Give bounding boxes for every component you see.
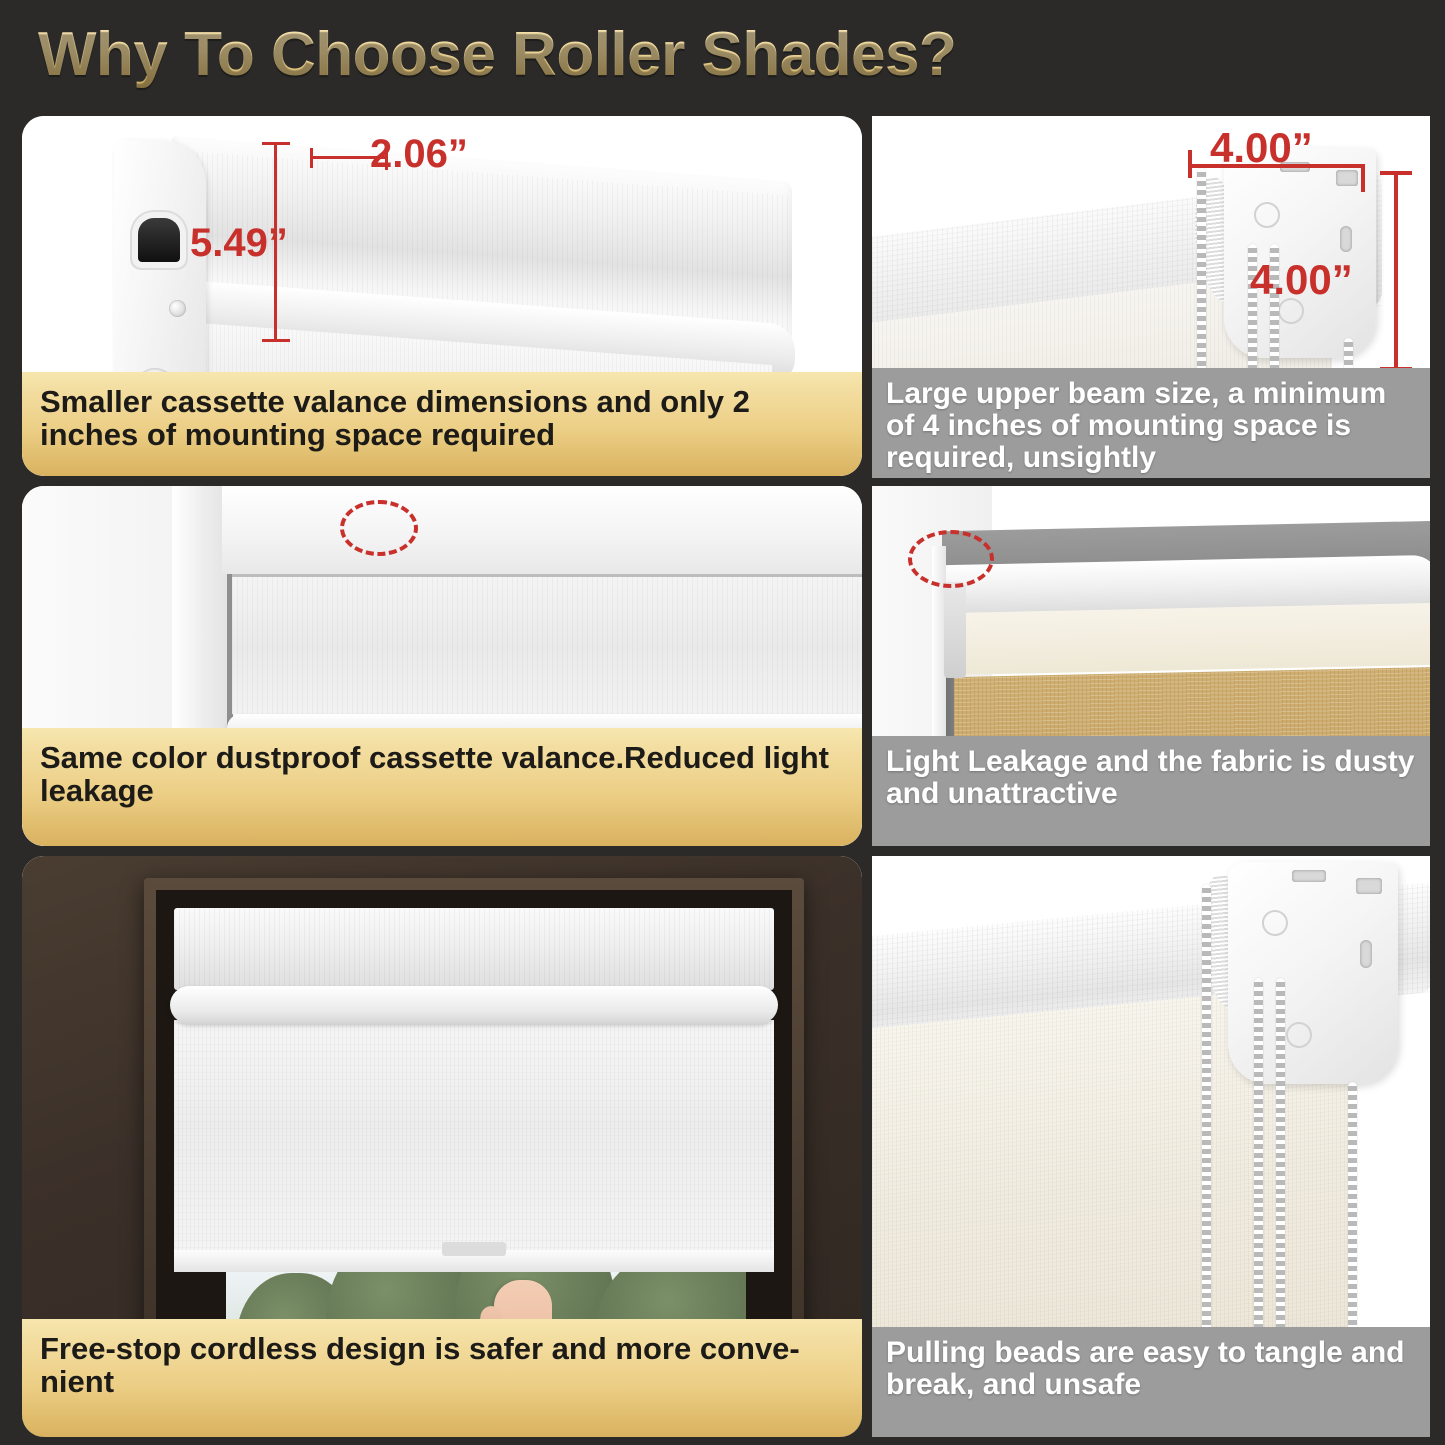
panel-cordless-design: Free-stop cordless design is safer and m… [22, 856, 862, 1437]
bracket-notch-a [1336, 170, 1358, 186]
mounting-bracket [1224, 148, 1376, 358]
mounting-clip [944, 582, 966, 678]
panel-caption-text: Free-stop cordless design is safer and m… [40, 1333, 844, 1399]
cream-fabric-band [940, 603, 1430, 675]
height-dimension-tick-bottom [262, 339, 290, 342]
highlight-circle-annotation [908, 530, 994, 588]
panel-pulling-beads: Pulling beads are easy to tangle and bre… [872, 856, 1430, 1437]
comparison-grid: 2.06” 5.49” Smaller cassette valance dim… [0, 108, 1445, 1445]
endcap-screw [169, 300, 186, 317]
panel-caption-text: Same color dustproof cassette valance.Re… [40, 742, 844, 808]
height-dimension-label: 4.00” [1250, 256, 1353, 304]
panel-caption: Light Leakage and the fabric is dusty an… [872, 736, 1430, 846]
width-dimension-tick-left [1188, 150, 1192, 178]
bracket-notch-c [1292, 870, 1326, 882]
bracket-logo-icon [1262, 910, 1288, 936]
width-dimension-label: 2.06” [370, 132, 468, 177]
panel-light-leakage: Large gap Light Leakage and the fabric i… [872, 486, 1430, 846]
shade-upper-panel [232, 574, 862, 714]
panel-caption-text: Light Leakage and the fabric is dusty an… [886, 746, 1416, 810]
panel-caption-text: Smaller cassette valance dimensions and … [40, 386, 844, 452]
height-dimension-tick-top [262, 142, 290, 145]
shade-fabric [174, 1020, 774, 1255]
panel-caption: Pulling beads are easy to tangle and bre… [872, 1327, 1430, 1437]
shade-grip-handle [442, 1242, 506, 1256]
bead-chain-mid [1254, 978, 1263, 1378]
page-header: Why To Choose Roller Shades? [0, 0, 1445, 108]
panel-caption: Large upper beam size, a minimum of 4 in… [872, 368, 1430, 478]
width-dimension-label: 4.00” [1210, 124, 1313, 172]
height-dimension-line [1394, 171, 1398, 371]
panel-cassette-valance: 2.06” 5.49” Smaller cassette valance dim… [22, 116, 862, 476]
bracket-notch-a [1356, 878, 1382, 894]
panel-caption: Free-stop cordless design is safer and m… [22, 1319, 862, 1437]
panel-dustproof-valance: smaller gap Same color dustproof cassett… [22, 486, 862, 846]
cassette-valance [174, 908, 774, 990]
panel-caption-text: Large upper beam size, a minimum of 4 in… [886, 378, 1416, 473]
panel-caption-text: Pulling beads are easy to tangle and bre… [886, 1337, 1416, 1401]
page-title: Why To Choose Roller Shades? [38, 19, 956, 90]
bracket-notch-b [1340, 226, 1352, 252]
height-dimension-label: 5.49” [190, 221, 288, 266]
panel-caption: Same color dustproof cassette valance.Re… [22, 728, 862, 846]
width-dimension-tick-left [310, 148, 313, 168]
panel-caption: Smaller cassette valance dimensions and … [22, 372, 862, 476]
bracket-notch-b [1360, 940, 1372, 968]
bracket-logo-icon [1254, 202, 1280, 228]
bead-chain-mid2 [1276, 978, 1285, 1378]
cassette-lip [170, 986, 778, 1024]
bracket-logo-icon-lower [1286, 1022, 1312, 1048]
window-header-trim [222, 486, 862, 574]
bead-chain-left [1202, 884, 1211, 1374]
width-dimension-tick-right [1361, 164, 1365, 192]
highlight-circle-annotation [340, 500, 418, 556]
height-dimension-tick-top [1380, 171, 1412, 175]
panel-large-upper-beam: 4.00” 4.00” Large upper beam size, a min… [872, 116, 1430, 478]
endcap-slot [138, 218, 180, 262]
